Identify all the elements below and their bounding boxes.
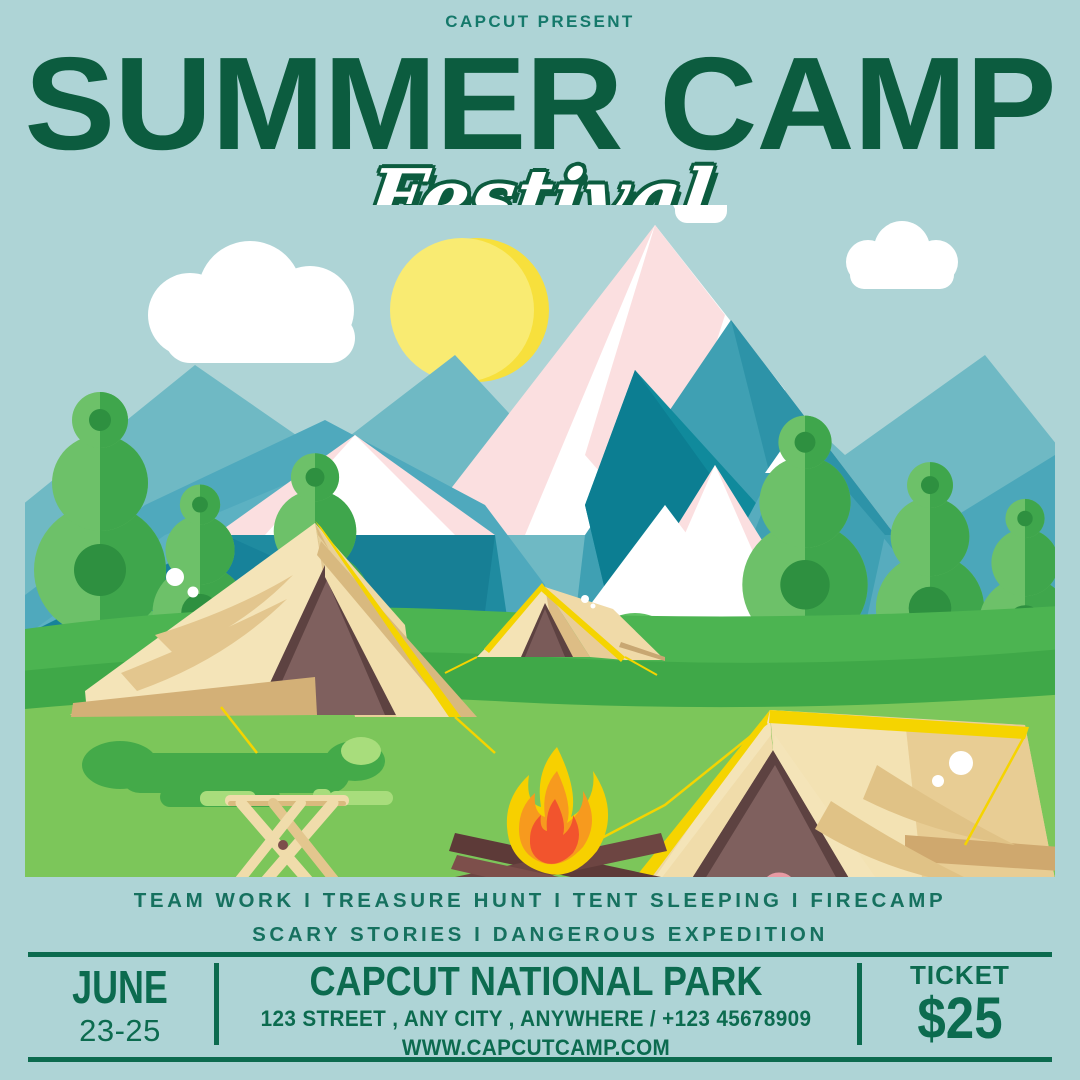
presenter-label: CAPCUT PRESENT <box>0 12 1080 32</box>
activities-list: TEAM WORK I TREASURE HUNT I TENT SLEEPIN… <box>0 884 1080 952</box>
page-title: SUMMER CAMP <box>0 38 1080 170</box>
sun-icon <box>390 238 549 382</box>
event-venue-block: CAPCUT NATIONAL PARK 123 STREET , ANY CI… <box>220 958 852 1062</box>
footer-divider-left <box>214 963 219 1045</box>
activities-line-2: SCARY STORIES I DANGEROUS EXPEDITION <box>0 918 1080 952</box>
venue-name: CAPCUT NATIONAL PARK <box>258 958 814 1004</box>
event-month: JUNE <box>50 963 190 1011</box>
activities-line-1: TEAM WORK I TREASURE HUNT I TENT SLEEPIN… <box>0 884 1080 918</box>
camp-illustration <box>25 205 1055 877</box>
footer-rule-top <box>28 952 1052 957</box>
venue-website[interactable]: WWW.CAPCUTCAMP.COM <box>239 1033 833 1062</box>
event-days: 23-25 <box>30 1011 210 1051</box>
ticket-price: $25 <box>874 990 1046 1048</box>
ticket-block: TICKET $25 <box>862 960 1058 1048</box>
title-block: SUMMER CAMP Festival <box>0 38 1080 198</box>
venue-address: 123 STREET , ANY CITY , ANYWHERE / +123 … <box>239 1004 833 1033</box>
event-date: JUNE 23-25 <box>30 963 210 1051</box>
poster-root: CAPCUT PRESENT SUMMER CAMP Festival <box>0 0 1080 1080</box>
